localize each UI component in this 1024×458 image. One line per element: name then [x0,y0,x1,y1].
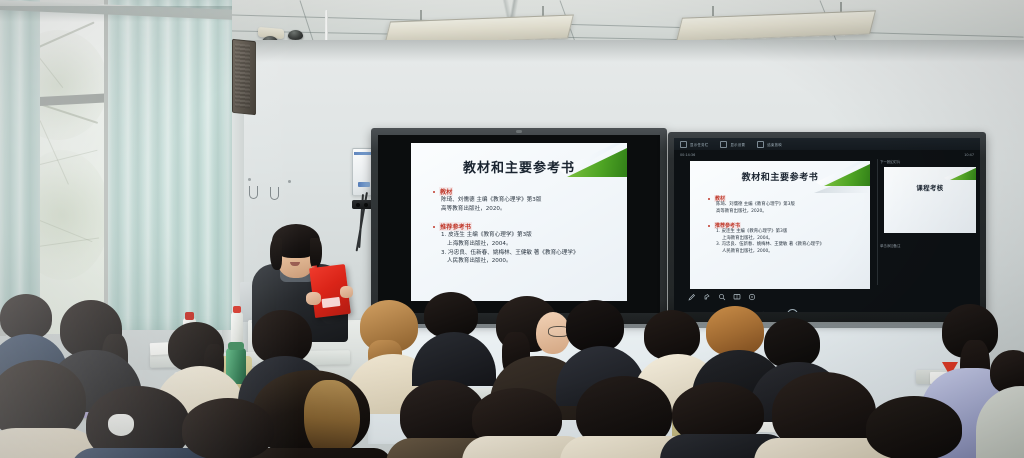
ink-tool-bar[interactable] [688,293,756,301]
socket-icon [356,203,360,207]
ink-annotation-marks: x x [920,311,934,312]
reference-line: 上海教育出版社，2004。 [447,240,619,249]
student-hair-highlight [304,380,360,458]
bottle-cap [233,306,241,313]
bullet-dot-icon [708,225,710,227]
lecturer-hair-side [310,238,322,268]
section-label-references: 推荐参考书 [439,222,472,231]
slide-body: 教材 陈琦、刘儒德 主编《教育心理学》第3版 高等教育出版社，2020。 推荐参… [708,189,862,256]
dome-camera-icon [288,30,303,40]
pen-icon[interactable] [688,293,696,301]
clock: 10:47 [964,153,974,157]
bottle-cap [185,312,194,320]
options-icon[interactable] [748,293,756,301]
student-hair [566,300,624,352]
notes-placeholder[interactable]: 单击添加备注 [880,243,900,248]
presentation-timer: 00:14:36 [680,153,695,157]
reference-line: 人民教育出版社，2000。 [722,249,862,256]
toolbar-item-end-show[interactable]: 结束放映 [757,141,782,148]
display-icon [720,141,727,148]
reference-line: 3. 冯忠良、伍新春、姚梅林、王健敏 著《教育心理学》 [441,249,619,258]
student-hair [182,398,274,458]
slide-bullet-heading: 推荐参考书 [433,222,619,231]
speaker-grille [235,43,250,109]
hook-screw [248,178,251,181]
toolbar-label: 显示设置 [730,142,745,147]
hook-screw [288,180,291,183]
main-display-screen[interactable]: 教材和主要参考书 教材 陈琦、刘儒德 主编《教育心理学》第3版 高等教育出版社，… [371,128,667,324]
next-slide-button[interactable]: ▶ [787,309,798,312]
socket-icon [364,203,368,207]
reference-line: 高等教育出版社，2020。 [716,209,862,216]
lecturer-hand [340,286,353,298]
next-slide-title: 课程考核 [884,183,976,192]
curtain-left [0,0,40,312]
section-label-textbook: 教材 [714,195,726,202]
reference-line: 陈琦、刘儒德 主编《教育心理学》第3版 [716,202,862,209]
next-slide-thumbnail: 课程考核 [884,167,976,233]
next-slide-label: 下一张幻灯片 [880,159,900,164]
bullet-dot-icon [433,226,435,228]
student-hair [764,318,820,368]
curtain-shadow [0,6,232,22]
reference-line: 陈琦、刘儒德 主编《教育心理学》第3版 [441,196,619,205]
screen-camera-icon [516,130,522,133]
reference-line: 高等教育出版社，2020。 [441,205,619,214]
presenter-subbar: 00:14:36 10:47 [674,150,980,159]
panel-logo-icon [358,182,370,187]
student-hair-auburn [706,306,764,356]
presenter-view-monitor[interactable]: 显示任务栏 显示设置 结束放映 00:14:36 10:47 [668,132,986,322]
magnifier-icon[interactable] [718,293,726,301]
reference-line: 人民教育出版社，2000。 [447,257,619,266]
window-wall [0,0,232,340]
thermos-cap [228,342,244,350]
slide-body: 教材 陈琦、刘儒德 主编《教育心理学》第3版 高等教育出版社，2020。 推荐参… [433,181,619,266]
classroom-photo: 教材和主要参考书 教材 陈琦、刘儒德 主编《教育心理学》第3版 高等教育出版社，… [0,0,1024,458]
toolbar-item-taskbar[interactable]: 显示任务栏 [680,141,708,148]
panel-divider [877,159,878,285]
presentation-slide: 教材和主要参考书 教材 陈琦、刘儒德 主编《教育心理学》第3版 高等教育出版社，… [411,143,627,301]
slide-bullet-heading: 教材 [433,187,619,196]
student-hair [866,396,962,458]
bullet-dot-icon [708,198,710,200]
highlighter-icon[interactable] [703,293,711,301]
face-mask [108,414,134,436]
slide-grid-icon[interactable] [733,293,741,301]
bullet-dot-icon [433,191,435,193]
presenter-toolbar[interactable]: 显示任务栏 显示设置 结束放映 [674,138,980,150]
grid-icon [680,141,687,148]
presenter-current-slide: 教材和主要参考书 教材 陈琦、刘儒德 主编《教育心理学》第3版 高等教育出版社，… [690,161,870,289]
curtain-right [108,0,232,330]
toolbar-item-display[interactable]: 显示设置 [720,141,745,148]
reference-line: 1. 皮连生 主编《教育心理学》第3版 [441,231,619,240]
slide-title: 教材和主要参考书 [411,157,627,176]
slide-corner-decoration [944,167,976,183]
lecturer-hand [306,292,321,305]
section-label-textbook: 教材 [439,187,453,196]
light-hanger [840,2,842,12]
toolbar-label: 显示任务栏 [690,142,708,147]
slide-title: 教材和主要参考书 [690,170,870,183]
end-icon [757,141,764,148]
presenter-stage: 教材和主要参考书 教材 陈琦、刘儒德 主编《教育心理学》第3版 高等教育出版社，… [674,159,980,312]
water-bottle [231,312,243,346]
coat-hook-icon [270,187,279,200]
coat-hook-icon [249,186,258,199]
toolbar-label: 结束放映 [767,142,782,147]
next-slide-panel[interactable]: 下一张幻灯片 课程考核 单击添加备注 [880,159,980,277]
reference-line: 1. 皮连生 主编《教育心理学》第3版 [716,229,862,236]
light-hanger [712,6,714,16]
lecturer-hair-side [270,238,282,270]
slide-bullet-heading: 教材 [708,195,862,202]
monitor-surface: 显示任务栏 显示设置 结束放映 00:14:36 10:47 [674,138,980,312]
student-hair [644,310,700,360]
